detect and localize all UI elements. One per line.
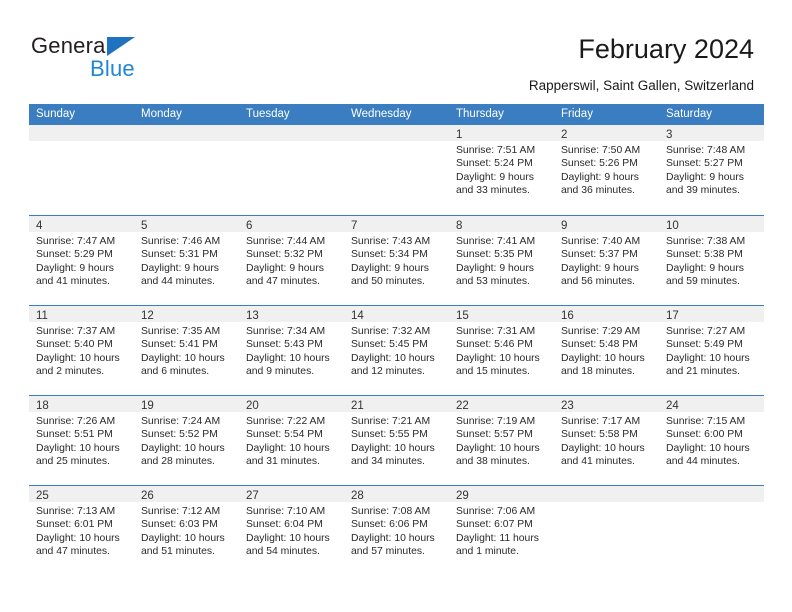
sunrise-text: Sunrise: 7:37 AM: [36, 325, 127, 338]
sunset-text: Sunset: 5:40 PM: [36, 338, 127, 351]
day-cell[interactable]: 15 Sunrise: 7:31 AM Sunset: 5:46 PM Dayl…: [449, 306, 554, 395]
day-number: 21: [351, 398, 364, 414]
sunrise-text: Sunrise: 7:38 AM: [666, 235, 757, 248]
day-number: 15: [456, 308, 469, 324]
daylight-text-line2: and 36 minutes.: [561, 184, 652, 197]
day-number: 27: [246, 488, 259, 504]
daylight-text-line2: and 1 minute.: [456, 545, 547, 558]
day-cell[interactable]: 19 Sunrise: 7:24 AM Sunset: 5:52 PM Dayl…: [134, 396, 239, 485]
day-cell[interactable]: 20 Sunrise: 7:22 AM Sunset: 5:54 PM Dayl…: [239, 396, 344, 485]
sunset-text: Sunset: 5:45 PM: [351, 338, 442, 351]
daylight-text-line1: Daylight: 9 hours: [561, 171, 652, 184]
day-number: 8: [456, 218, 462, 234]
daylight-text-line2: and 44 minutes.: [666, 455, 757, 468]
day-info: Sunrise: 7:29 AM Sunset: 5:48 PM Dayligh…: [554, 322, 659, 378]
daylight-text-line1: Daylight: 10 hours: [561, 352, 652, 365]
day-number: 2: [561, 127, 567, 143]
day-number: 3: [666, 127, 672, 143]
day-number-band: [239, 125, 344, 141]
sunset-text: Sunset: 5:58 PM: [561, 428, 652, 441]
day-cell[interactable]: 27 Sunrise: 7:10 AM Sunset: 6:04 PM Dayl…: [239, 486, 344, 575]
calendar-grid: Sunday Monday Tuesday Wednesday Thursday…: [29, 104, 764, 575]
daylight-text-line2: and 25 minutes.: [36, 455, 127, 468]
sunset-text: Sunset: 5:34 PM: [351, 248, 442, 261]
day-cell[interactable]: 6 Sunrise: 7:44 AM Sunset: 5:32 PM Dayli…: [239, 216, 344, 305]
day-cell[interactable]: 21 Sunrise: 7:21 AM Sunset: 5:55 PM Dayl…: [344, 396, 449, 485]
daylight-text-line2: and 51 minutes.: [141, 545, 232, 558]
daylight-text-line2: and 59 minutes.: [666, 275, 757, 288]
day-cell[interactable]: [659, 486, 764, 575]
daylight-text-line1: Daylight: 10 hours: [36, 352, 127, 365]
day-number-band: 10: [659, 216, 764, 232]
day-info: [29, 141, 134, 144]
day-number-band: 29: [449, 486, 554, 502]
day-info: Sunrise: 7:37 AM Sunset: 5:40 PM Dayligh…: [29, 322, 134, 378]
day-number-band: 25: [29, 486, 134, 502]
daylight-text-line1: Daylight: 10 hours: [666, 442, 757, 455]
day-info: Sunrise: 7:13 AM Sunset: 6:01 PM Dayligh…: [29, 502, 134, 558]
day-cell[interactable]: [134, 125, 239, 215]
day-cell[interactable]: 7 Sunrise: 7:43 AM Sunset: 5:34 PM Dayli…: [344, 216, 449, 305]
daylight-text-line2: and 21 minutes.: [666, 365, 757, 378]
daylight-text-line2: and 2 minutes.: [36, 365, 127, 378]
day-number: 11: [36, 308, 48, 324]
day-number: 5: [141, 218, 147, 234]
daylight-text-line1: Daylight: 10 hours: [666, 352, 757, 365]
day-info: Sunrise: 7:24 AM Sunset: 5:52 PM Dayligh…: [134, 412, 239, 468]
sunrise-text: Sunrise: 7:19 AM: [456, 415, 547, 428]
sunset-text: Sunset: 5:41 PM: [141, 338, 232, 351]
weekday-header-row: Sunday Monday Tuesday Wednesday Thursday…: [29, 104, 764, 125]
daylight-text-line1: Daylight: 10 hours: [351, 442, 442, 455]
day-number: 26: [141, 488, 154, 504]
daylight-text-line1: Daylight: 9 hours: [246, 262, 337, 275]
daylight-text-line1: Daylight: 10 hours: [36, 532, 127, 545]
calendar-week-row: 1 Sunrise: 7:51 AM Sunset: 5:24 PM Dayli…: [29, 125, 764, 215]
day-cell[interactable]: 1 Sunrise: 7:51 AM Sunset: 5:24 PM Dayli…: [449, 125, 554, 215]
day-number-band: 20: [239, 396, 344, 412]
daylight-text-line2: and 9 minutes.: [246, 365, 337, 378]
sunset-text: Sunset: 5:38 PM: [666, 248, 757, 261]
day-cell[interactable]: [554, 486, 659, 575]
sunset-text: Sunset: 5:51 PM: [36, 428, 127, 441]
weekday-header-monday: Monday: [134, 104, 239, 125]
day-cell[interactable]: 8 Sunrise: 7:41 AM Sunset: 5:35 PM Dayli…: [449, 216, 554, 305]
sunrise-text: Sunrise: 7:26 AM: [36, 415, 127, 428]
weekday-header-wednesday: Wednesday: [344, 104, 449, 125]
sunrise-text: Sunrise: 7:17 AM: [561, 415, 652, 428]
page-title: February 2024: [578, 34, 754, 65]
day-number-band: [134, 125, 239, 141]
day-cell[interactable]: 10 Sunrise: 7:38 AM Sunset: 5:38 PM Dayl…: [659, 216, 764, 305]
day-info: Sunrise: 7:06 AM Sunset: 6:07 PM Dayligh…: [449, 502, 554, 558]
day-info: [344, 141, 449, 144]
day-cell[interactable]: 12 Sunrise: 7:35 AM Sunset: 5:41 PM Dayl…: [134, 306, 239, 395]
day-number: 23: [561, 398, 574, 414]
daylight-text-line2: and 38 minutes.: [456, 455, 547, 468]
day-number: 14: [351, 308, 364, 324]
day-number: 1: [456, 127, 462, 143]
sunset-text: Sunset: 5:27 PM: [666, 157, 757, 170]
weekday-header-thursday: Thursday: [449, 104, 554, 125]
day-number-band: 19: [134, 396, 239, 412]
daylight-text-line1: Daylight: 10 hours: [141, 532, 232, 545]
sunrise-text: Sunrise: 7:51 AM: [456, 144, 547, 157]
sunrise-text: Sunrise: 7:35 AM: [141, 325, 232, 338]
sunrise-text: Sunrise: 7:40 AM: [561, 235, 652, 248]
sunset-text: Sunset: 5:57 PM: [456, 428, 547, 441]
day-number-band: 17: [659, 306, 764, 322]
calendar-week-row: 11 Sunrise: 7:37 AM Sunset: 5:40 PM Dayl…: [29, 305, 764, 395]
day-cell[interactable]: 26 Sunrise: 7:12 AM Sunset: 6:03 PM Dayl…: [134, 486, 239, 575]
day-number-band: [659, 486, 764, 502]
day-info: Sunrise: 7:34 AM Sunset: 5:43 PM Dayligh…: [239, 322, 344, 378]
daylight-text-line1: Daylight: 10 hours: [246, 352, 337, 365]
day-info: Sunrise: 7:22 AM Sunset: 5:54 PM Dayligh…: [239, 412, 344, 468]
daylight-text-line1: Daylight: 10 hours: [246, 442, 337, 455]
day-number-band: 27: [239, 486, 344, 502]
daylight-text-line1: Daylight: 9 hours: [666, 171, 757, 184]
day-number: 12: [141, 308, 154, 324]
sunrise-text: Sunrise: 7:47 AM: [36, 235, 127, 248]
day-number-band: 23: [554, 396, 659, 412]
calendar-page: General Blue February 2024 Rapperswil, S…: [0, 0, 792, 612]
day-info: Sunrise: 7:47 AM Sunset: 5:29 PM Dayligh…: [29, 232, 134, 288]
day-cell[interactable]: [239, 125, 344, 215]
sunrise-text: Sunrise: 7:50 AM: [561, 144, 652, 157]
daylight-text-line1: Daylight: 10 hours: [246, 532, 337, 545]
day-number: 10: [666, 218, 679, 234]
day-cell[interactable]: 16 Sunrise: 7:29 AM Sunset: 5:48 PM Dayl…: [554, 306, 659, 395]
day-number-band: 15: [449, 306, 554, 322]
day-info: Sunrise: 7:17 AM Sunset: 5:58 PM Dayligh…: [554, 412, 659, 468]
day-cell[interactable]: 9 Sunrise: 7:40 AM Sunset: 5:37 PM Dayli…: [554, 216, 659, 305]
sunset-text: Sunset: 5:54 PM: [246, 428, 337, 441]
sunset-text: Sunset: 5:31 PM: [141, 248, 232, 261]
sunset-text: Sunset: 6:00 PM: [666, 428, 757, 441]
sunrise-text: Sunrise: 7:22 AM: [246, 415, 337, 428]
sunrise-text: Sunrise: 7:31 AM: [456, 325, 547, 338]
daylight-text-line1: Daylight: 9 hours: [456, 171, 547, 184]
sunset-text: Sunset: 5:29 PM: [36, 248, 127, 261]
daylight-text-line1: Daylight: 9 hours: [36, 262, 127, 275]
daylight-text-line2: and 44 minutes.: [141, 275, 232, 288]
daylight-text-line1: Daylight: 10 hours: [141, 442, 232, 455]
weekday-header-tuesday: Tuesday: [239, 104, 344, 125]
day-number: 6: [246, 218, 252, 234]
day-info: [659, 502, 764, 505]
daylight-text-line2: and 31 minutes.: [246, 455, 337, 468]
sunset-text: Sunset: 5:32 PM: [246, 248, 337, 261]
day-info: [134, 141, 239, 144]
day-info: Sunrise: 7:19 AM Sunset: 5:57 PM Dayligh…: [449, 412, 554, 468]
daylight-text-line2: and 39 minutes.: [666, 184, 757, 197]
sunrise-text: Sunrise: 7:44 AM: [246, 235, 337, 248]
day-info: Sunrise: 7:40 AM Sunset: 5:37 PM Dayligh…: [554, 232, 659, 288]
daylight-text-line2: and 53 minutes.: [456, 275, 547, 288]
day-number-band: 24: [659, 396, 764, 412]
sunset-text: Sunset: 5:35 PM: [456, 248, 547, 261]
day-number-band: 6: [239, 216, 344, 232]
day-info: Sunrise: 7:08 AM Sunset: 6:06 PM Dayligh…: [344, 502, 449, 558]
day-number: 16: [561, 308, 574, 324]
sunset-text: Sunset: 6:07 PM: [456, 518, 547, 531]
day-number: 7: [351, 218, 357, 234]
logo-text-blue: Blue: [90, 56, 135, 82]
day-info: Sunrise: 7:35 AM Sunset: 5:41 PM Dayligh…: [134, 322, 239, 378]
sunset-text: Sunset: 5:48 PM: [561, 338, 652, 351]
day-number-band: 21: [344, 396, 449, 412]
day-number: 29: [456, 488, 469, 504]
daylight-text-line2: and 6 minutes.: [141, 365, 232, 378]
daylight-text-line2: and 56 minutes.: [561, 275, 652, 288]
day-cell[interactable]: 17 Sunrise: 7:27 AM Sunset: 5:49 PM Dayl…: [659, 306, 764, 395]
day-cell[interactable]: 23 Sunrise: 7:17 AM Sunset: 5:58 PM Dayl…: [554, 396, 659, 485]
daylight-text-line2: and 34 minutes.: [351, 455, 442, 468]
day-info: Sunrise: 7:41 AM Sunset: 5:35 PM Dayligh…: [449, 232, 554, 288]
sunset-text: Sunset: 6:04 PM: [246, 518, 337, 531]
day-info: Sunrise: 7:12 AM Sunset: 6:03 PM Dayligh…: [134, 502, 239, 558]
day-cell[interactable]: [344, 125, 449, 215]
day-number: 25: [36, 488, 49, 504]
sunrise-text: Sunrise: 7:41 AM: [456, 235, 547, 248]
day-number-band: 14: [344, 306, 449, 322]
weekday-header-saturday: Saturday: [659, 104, 764, 125]
day-cell[interactable]: [29, 125, 134, 215]
page-subtitle-location: Rapperswil, Saint Gallen, Switzerland: [529, 78, 754, 93]
day-info: Sunrise: 7:27 AM Sunset: 5:49 PM Dayligh…: [659, 322, 764, 378]
day-cell[interactable]: 13 Sunrise: 7:34 AM Sunset: 5:43 PM Dayl…: [239, 306, 344, 395]
daylight-text-line1: Daylight: 11 hours: [456, 532, 547, 545]
day-number-band: 22: [449, 396, 554, 412]
day-cell[interactable]: 18 Sunrise: 7:26 AM Sunset: 5:51 PM Dayl…: [29, 396, 134, 485]
day-number: 18: [36, 398, 49, 414]
daylight-text-line2: and 57 minutes.: [351, 545, 442, 558]
weekday-header-friday: Friday: [554, 104, 659, 125]
daylight-text-line2: and 47 minutes.: [36, 545, 127, 558]
day-number-band: [554, 486, 659, 502]
day-number: 9: [561, 218, 567, 234]
daylight-text-line2: and 41 minutes.: [36, 275, 127, 288]
daylight-text-line1: Daylight: 10 hours: [141, 352, 232, 365]
day-number-band: 8: [449, 216, 554, 232]
day-info: Sunrise: 7:26 AM Sunset: 5:51 PM Dayligh…: [29, 412, 134, 468]
daylight-text-line2: and 50 minutes.: [351, 275, 442, 288]
sunset-text: Sunset: 5:26 PM: [561, 157, 652, 170]
day-info: Sunrise: 7:15 AM Sunset: 6:00 PM Dayligh…: [659, 412, 764, 468]
day-number: 22: [456, 398, 469, 414]
day-info: Sunrise: 7:31 AM Sunset: 5:46 PM Dayligh…: [449, 322, 554, 378]
sunrise-text: Sunrise: 7:12 AM: [141, 505, 232, 518]
general-blue-logo[interactable]: General Blue: [31, 33, 231, 85]
daylight-text-line1: Daylight: 10 hours: [561, 442, 652, 455]
day-info: Sunrise: 7:51 AM Sunset: 5:24 PM Dayligh…: [449, 141, 554, 197]
day-cell[interactable]: 25 Sunrise: 7:13 AM Sunset: 6:01 PM Dayl…: [29, 486, 134, 575]
day-cell[interactable]: 28 Sunrise: 7:08 AM Sunset: 6:06 PM Dayl…: [344, 486, 449, 575]
day-info: Sunrise: 7:50 AM Sunset: 5:26 PM Dayligh…: [554, 141, 659, 197]
sunrise-text: Sunrise: 7:43 AM: [351, 235, 442, 248]
day-number-band: 3: [659, 125, 764, 141]
daylight-text-line1: Daylight: 10 hours: [36, 442, 127, 455]
day-cell[interactable]: 14 Sunrise: 7:32 AM Sunset: 5:45 PM Dayl…: [344, 306, 449, 395]
day-info: Sunrise: 7:46 AM Sunset: 5:31 PM Dayligh…: [134, 232, 239, 288]
sunset-text: Sunset: 6:01 PM: [36, 518, 127, 531]
day-number-band: 7: [344, 216, 449, 232]
sunrise-text: Sunrise: 7:10 AM: [246, 505, 337, 518]
sunset-text: Sunset: 5:37 PM: [561, 248, 652, 261]
day-number-band: 2: [554, 125, 659, 141]
day-number-band: 26: [134, 486, 239, 502]
day-number-band: 9: [554, 216, 659, 232]
calendar-week-row: 4 Sunrise: 7:47 AM Sunset: 5:29 PM Dayli…: [29, 215, 764, 305]
day-number-band: 28: [344, 486, 449, 502]
day-number: 13: [246, 308, 259, 324]
day-number-band: 12: [134, 306, 239, 322]
day-info: Sunrise: 7:44 AM Sunset: 5:32 PM Dayligh…: [239, 232, 344, 288]
day-info: Sunrise: 7:38 AM Sunset: 5:38 PM Dayligh…: [659, 232, 764, 288]
sunrise-text: Sunrise: 7:34 AM: [246, 325, 337, 338]
sunset-text: Sunset: 5:46 PM: [456, 338, 547, 351]
daylight-text-line1: Daylight: 10 hours: [456, 352, 547, 365]
day-cell[interactable]: 22 Sunrise: 7:19 AM Sunset: 5:57 PM Dayl…: [449, 396, 554, 485]
sunset-text: Sunset: 5:49 PM: [666, 338, 757, 351]
daylight-text-line2: and 15 minutes.: [456, 365, 547, 378]
sunrise-text: Sunrise: 7:48 AM: [666, 144, 757, 157]
day-number-band: [29, 125, 134, 141]
day-cell[interactable]: 4 Sunrise: 7:47 AM Sunset: 5:29 PM Dayli…: [29, 216, 134, 305]
day-info: Sunrise: 7:43 AM Sunset: 5:34 PM Dayligh…: [344, 232, 449, 288]
sunrise-text: Sunrise: 7:15 AM: [666, 415, 757, 428]
sunrise-text: Sunrise: 7:21 AM: [351, 415, 442, 428]
day-cell[interactable]: 11 Sunrise: 7:37 AM Sunset: 5:40 PM Dayl…: [29, 306, 134, 395]
daylight-text-line1: Daylight: 10 hours: [351, 532, 442, 545]
daylight-text-line1: Daylight: 9 hours: [141, 262, 232, 275]
daylight-text-line2: and 12 minutes.: [351, 365, 442, 378]
day-number-band: 5: [134, 216, 239, 232]
daylight-text-line1: Daylight: 9 hours: [666, 262, 757, 275]
sunset-text: Sunset: 6:06 PM: [351, 518, 442, 531]
daylight-text-line1: Daylight: 9 hours: [351, 262, 442, 275]
day-number-band: 16: [554, 306, 659, 322]
day-number: 28: [351, 488, 364, 504]
daylight-text-line1: Daylight: 9 hours: [561, 262, 652, 275]
day-number-band: 13: [239, 306, 344, 322]
sunrise-text: Sunrise: 7:24 AM: [141, 415, 232, 428]
calendar-week-row: 25 Sunrise: 7:13 AM Sunset: 6:01 PM Dayl…: [29, 485, 764, 575]
sunrise-text: Sunrise: 7:32 AM: [351, 325, 442, 338]
weekday-header-sunday: Sunday: [29, 104, 134, 125]
daylight-text-line2: and 33 minutes.: [456, 184, 547, 197]
sunrise-text: Sunrise: 7:29 AM: [561, 325, 652, 338]
sunset-text: Sunset: 5:43 PM: [246, 338, 337, 351]
day-cell[interactable]: 2 Sunrise: 7:50 AM Sunset: 5:26 PM Dayli…: [554, 125, 659, 215]
daylight-text-line2: and 47 minutes.: [246, 275, 337, 288]
daylight-text-line2: and 28 minutes.: [141, 455, 232, 468]
day-info: [554, 502, 659, 505]
day-cell[interactable]: 3 Sunrise: 7:48 AM Sunset: 5:27 PM Dayli…: [659, 125, 764, 215]
sunset-text: Sunset: 5:24 PM: [456, 157, 547, 170]
sunrise-text: Sunrise: 7:27 AM: [666, 325, 757, 338]
day-info: Sunrise: 7:21 AM Sunset: 5:55 PM Dayligh…: [344, 412, 449, 468]
day-info: [239, 141, 344, 144]
daylight-text-line1: Daylight: 10 hours: [456, 442, 547, 455]
day-number: 19: [141, 398, 154, 414]
day-cell[interactable]: 5 Sunrise: 7:46 AM Sunset: 5:31 PM Dayli…: [134, 216, 239, 305]
sunset-text: Sunset: 6:03 PM: [141, 518, 232, 531]
day-number: 4: [36, 218, 42, 234]
sunset-text: Sunset: 5:55 PM: [351, 428, 442, 441]
daylight-text-line1: Daylight: 10 hours: [351, 352, 442, 365]
sunrise-text: Sunrise: 7:13 AM: [36, 505, 127, 518]
day-number-band: 11: [29, 306, 134, 322]
day-number-band: 4: [29, 216, 134, 232]
sunrise-text: Sunrise: 7:46 AM: [141, 235, 232, 248]
day-cell[interactable]: 24 Sunrise: 7:15 AM Sunset: 6:00 PM Dayl…: [659, 396, 764, 485]
day-number: 20: [246, 398, 259, 414]
day-number-band: 18: [29, 396, 134, 412]
page-header: General Blue February 2024 Rapperswil, S…: [0, 0, 792, 103]
day-cell[interactable]: 29 Sunrise: 7:06 AM Sunset: 6:07 PM Dayl…: [449, 486, 554, 575]
day-info: Sunrise: 7:32 AM Sunset: 5:45 PM Dayligh…: [344, 322, 449, 378]
day-info: Sunrise: 7:48 AM Sunset: 5:27 PM Dayligh…: [659, 141, 764, 197]
calendar-week-row: 18 Sunrise: 7:26 AM Sunset: 5:51 PM Dayl…: [29, 395, 764, 485]
day-number: 24: [666, 398, 679, 414]
daylight-text-line2: and 54 minutes.: [246, 545, 337, 558]
daylight-text-line2: and 18 minutes.: [561, 365, 652, 378]
logo-triangle-icon: [107, 37, 135, 56]
day-number: 17: [666, 308, 679, 324]
daylight-text-line1: Daylight: 9 hours: [456, 262, 547, 275]
day-info: Sunrise: 7:10 AM Sunset: 6:04 PM Dayligh…: [239, 502, 344, 558]
day-number-band: 1: [449, 125, 554, 141]
day-number-band: [344, 125, 449, 141]
sunset-text: Sunset: 5:52 PM: [141, 428, 232, 441]
daylight-text-line2: and 41 minutes.: [561, 455, 652, 468]
sunrise-text: Sunrise: 7:06 AM: [456, 505, 547, 518]
sunrise-text: Sunrise: 7:08 AM: [351, 505, 442, 518]
